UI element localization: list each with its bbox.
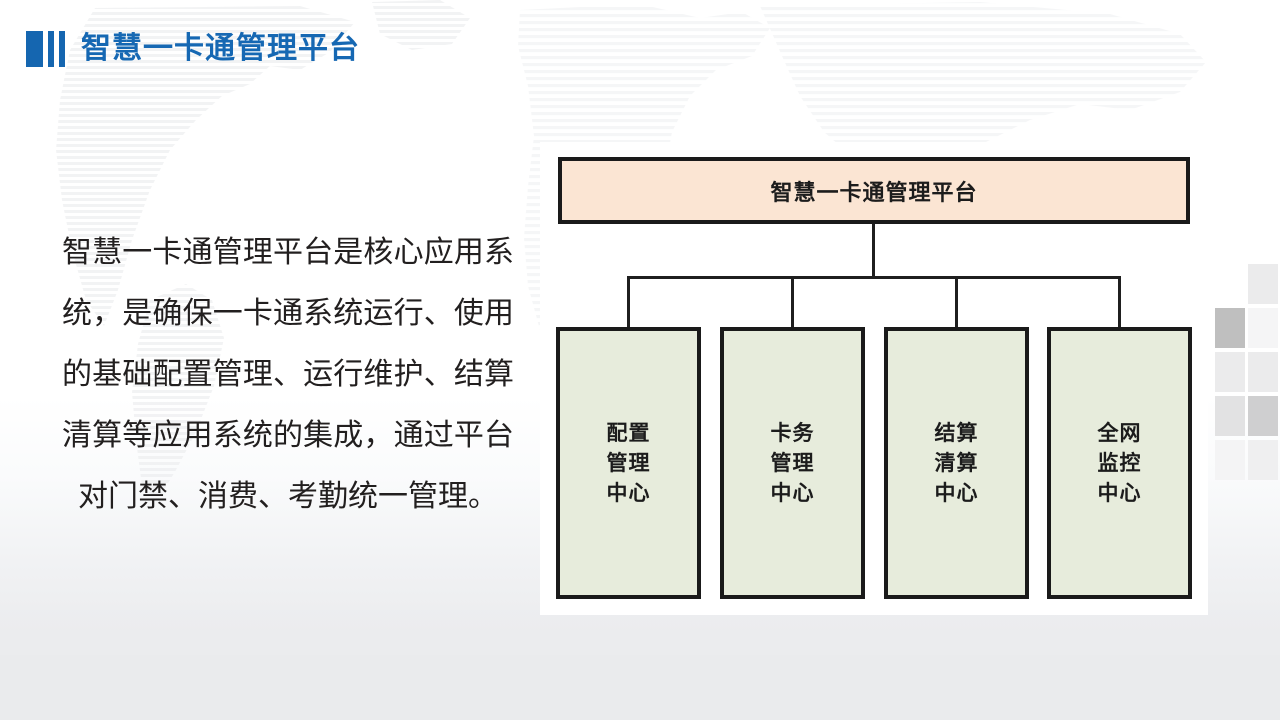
decorative-square — [1215, 396, 1245, 436]
decorative-square — [1248, 440, 1278, 480]
connector-bus — [627, 276, 1121, 279]
slide-header: 智慧一卡通管理平台 — [0, 26, 360, 72]
chart-root-label: 智慧一卡通管理平台 — [770, 175, 977, 207]
decorative-square — [1248, 264, 1278, 304]
bottom-gradient-band — [0, 610, 1280, 720]
decorative-square — [1248, 352, 1278, 392]
chart-node-line-3: 中心 — [1098, 478, 1142, 508]
decorative-square-grid — [1212, 264, 1280, 524]
chart-node-line-1: 结算 — [935, 418, 979, 448]
page-title: 智慧一卡通管理平台 — [81, 34, 360, 64]
decorative-square — [1215, 440, 1245, 480]
chart-node-line-1: 配置 — [607, 418, 651, 448]
header-accent-mark — [26, 31, 65, 67]
connector-drop-1 — [627, 276, 630, 327]
chart-node-line-2: 管理 — [771, 448, 815, 478]
chart-node-line-3: 中心 — [935, 478, 979, 508]
chart-node-settlement-center: 结算 清算 中心 — [884, 327, 1029, 599]
decorative-square — [1248, 308, 1278, 348]
decorative-square — [1215, 308, 1245, 348]
connector-drop-2 — [791, 276, 794, 327]
diagram-panel: 智慧一卡通管理平台 配置 管理 中心 卡务 管理 中心 — [540, 142, 1208, 615]
connector-drop-3 — [955, 276, 958, 327]
chart-node-config-center: 配置 管理 中心 — [556, 327, 701, 599]
slide: 智慧一卡通管理平台 智慧一卡通管理平台是核心应用系统，是确保一卡通系统运行、使用… — [0, 0, 1280, 720]
connector-drop-4 — [1118, 276, 1121, 327]
chart-node-line-3: 中心 — [607, 478, 651, 508]
chart-node-line-3: 中心 — [771, 478, 815, 508]
chart-node-card-service-center: 卡务 管理 中心 — [720, 327, 865, 599]
chart-root-node: 智慧一卡通管理平台 — [558, 157, 1190, 224]
chart-node-network-monitor-center: 全网 监控 中心 — [1047, 327, 1192, 599]
accent-bar-thin-1 — [48, 31, 54, 67]
chart-node-line-1: 全网 — [1098, 418, 1142, 448]
chart-node-line-2: 监控 — [1098, 448, 1142, 478]
bottom-solid-band — [0, 655, 1280, 720]
decorative-square — [1215, 352, 1245, 392]
accent-bar-thin-2 — [59, 31, 65, 67]
decorative-square — [1248, 396, 1278, 436]
org-chart: 智慧一卡通管理平台 配置 管理 中心 卡务 管理 中心 — [540, 142, 1208, 615]
connector-stem — [872, 224, 875, 278]
chart-node-line-2: 清算 — [935, 448, 979, 478]
chart-node-line-1: 卡务 — [771, 418, 815, 448]
accent-bar-wide — [26, 31, 43, 67]
chart-node-line-2: 管理 — [607, 448, 651, 478]
description-paragraph: 智慧一卡通管理平台是核心应用系统，是确保一卡通系统运行、使用的基础配置管理、运行… — [62, 222, 514, 527]
